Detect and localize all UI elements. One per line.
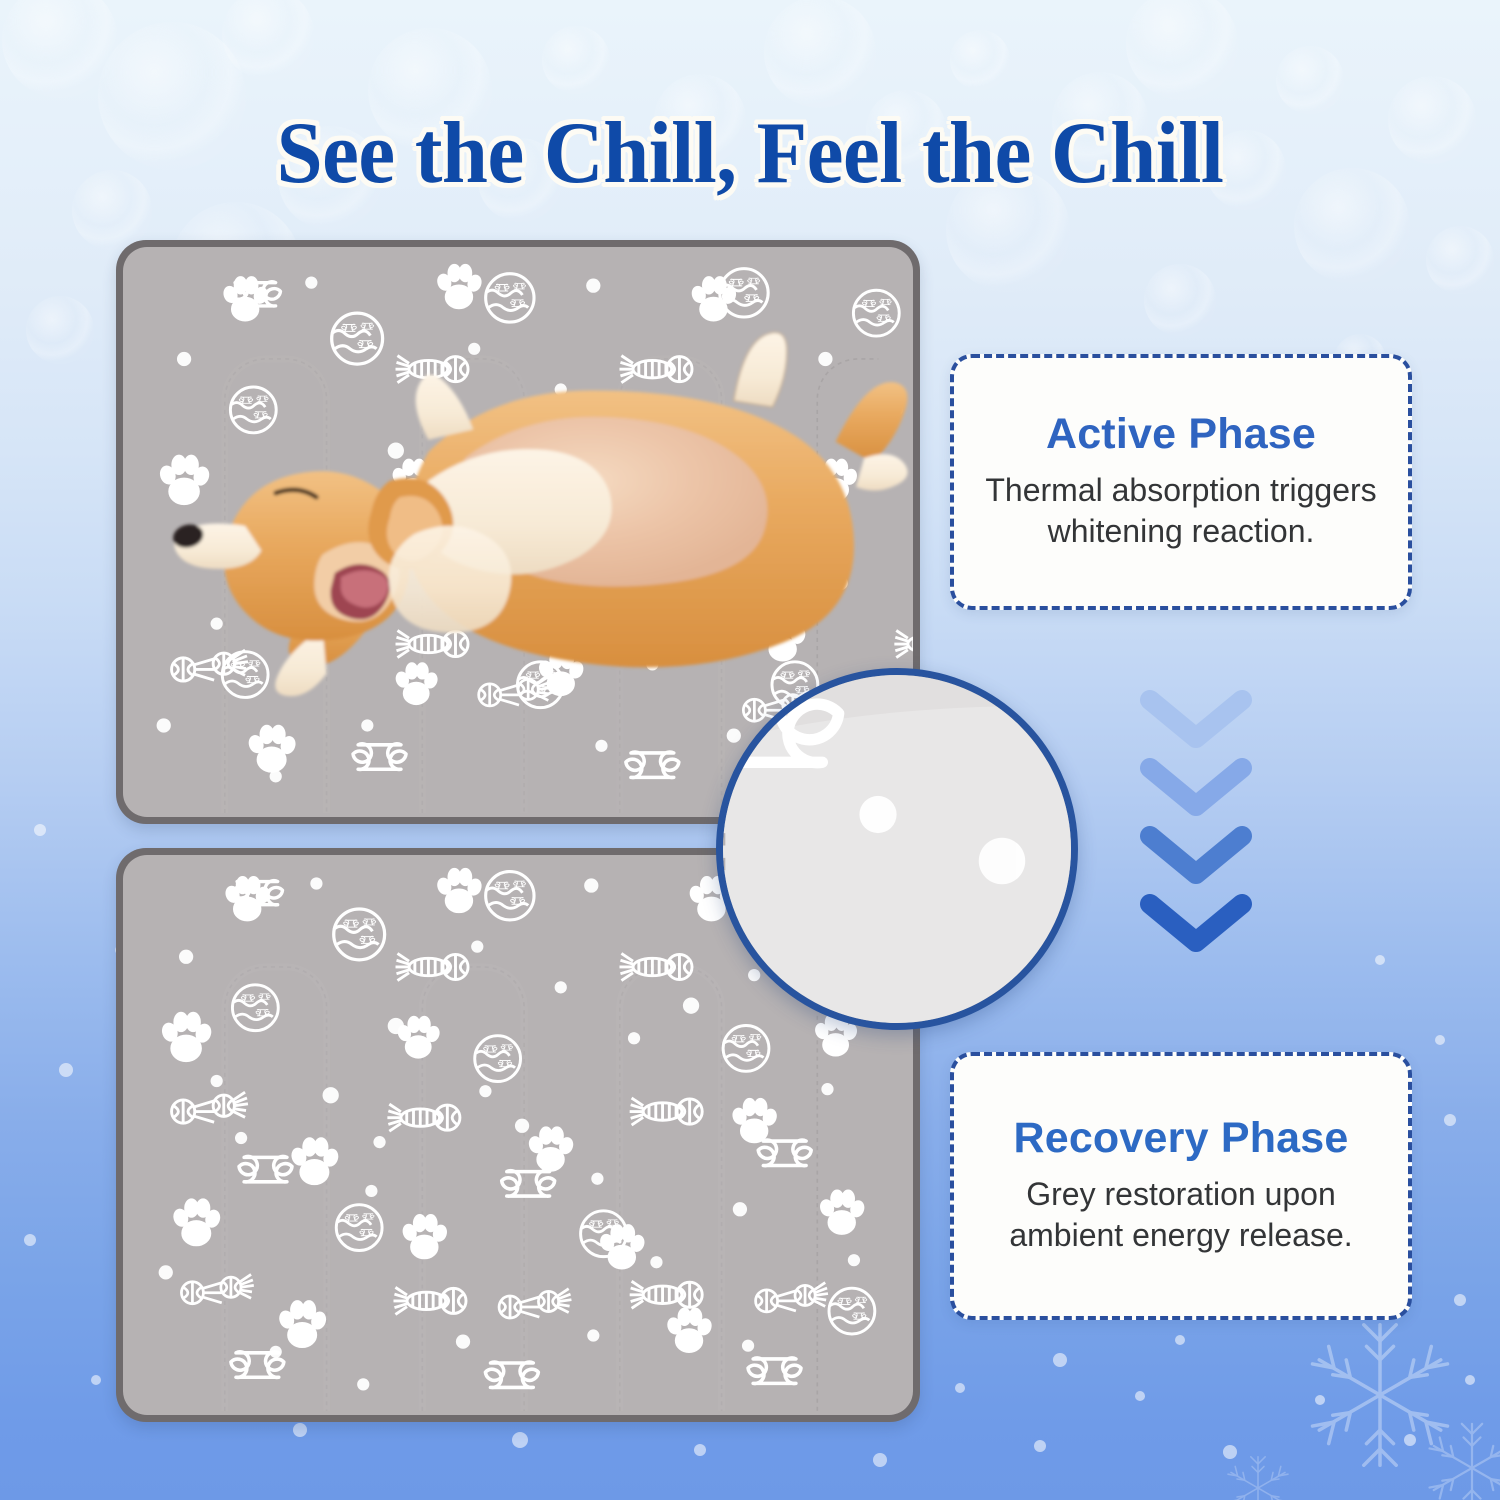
chevron-down-icon-2 — [1150, 768, 1242, 806]
downward-chevron-sequence — [1134, 688, 1258, 968]
magnified-whitening-detail — [716, 668, 1078, 1030]
chevron-down-icon-1 — [1150, 700, 1242, 738]
callout-recovery-phase: Recovery Phase Grey restoration upon amb… — [950, 1052, 1412, 1320]
callout-active-heading: Active Phase — [1046, 413, 1316, 456]
callout-recovery-body: Grey restoration upon ambient energy rel… — [980, 1174, 1382, 1255]
magnifier-content — [716, 668, 1078, 1030]
callout-active-phase: Active Phase Thermal absorption triggers… — [950, 354, 1412, 610]
chevron-down-icon-4 — [1150, 904, 1242, 942]
callout-recovery-heading: Recovery Phase — [1013, 1117, 1348, 1160]
callout-active-body: Thermal absorption triggers whitening re… — [980, 470, 1382, 551]
chevron-down-icon-3 — [1150, 836, 1242, 874]
page-title: See the Chill, Feel the Chill — [45, 103, 1455, 204]
product-infographic: See the Chill, Feel the Chill — [0, 0, 1500, 1500]
